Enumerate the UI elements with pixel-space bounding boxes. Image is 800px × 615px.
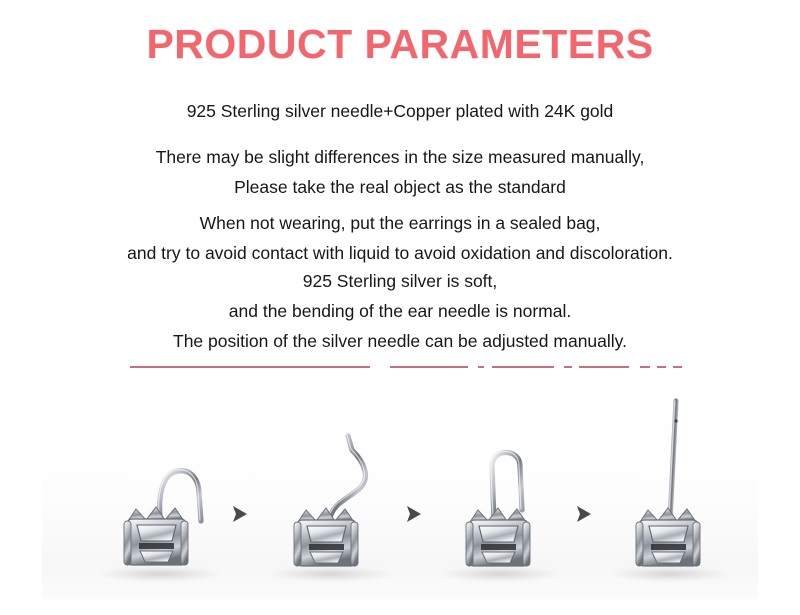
divider-gap <box>572 366 579 368</box>
copy-line: and try to avoid contact with liquid to … <box>0 238 800 268</box>
copy-line: 925 Sterling silver is soft, <box>0 266 800 296</box>
divider-gap <box>468 366 478 368</box>
arrow-2-triangle-right-icon <box>402 503 424 525</box>
decorative-divider <box>130 362 682 372</box>
copy-line: and the bending of the ear needle is nor… <box>0 296 800 326</box>
copy-line: The position of the silver needle can be… <box>0 326 800 356</box>
divider-gap <box>666 366 673 368</box>
divider-gap <box>554 366 564 368</box>
paragraph-softness-note: 925 Sterling silver is soft, and the ben… <box>0 266 800 356</box>
divider-dash <box>564 366 572 368</box>
divider-gap <box>370 366 390 368</box>
arrow-3-triangle-right-icon <box>572 503 594 525</box>
copy-line: When not wearing, put the earrings in a … <box>0 208 800 238</box>
product-parameters-page: PRODUCT PARAMETERS 925 Sterling silver n… <box>0 0 800 615</box>
step-3-stud-with-u-bent-needle <box>444 410 584 575</box>
step-2-stud-with-z-bent-needle <box>272 410 422 575</box>
step-1-stud-with-hook-bent-needle <box>102 425 242 575</box>
stud-straight-needle-icon <box>614 385 754 575</box>
arrow-1-triangle-right-icon <box>228 503 250 525</box>
copy-line: There may be slight differences in the s… <box>0 142 800 172</box>
paragraph-storage-care: When not wearing, put the earrings in a … <box>0 208 800 268</box>
divider-gap <box>629 366 640 368</box>
copy-line: Please take the real object as the stand… <box>0 172 800 202</box>
divider-dash <box>640 366 650 368</box>
stud-u-bent-needle-icon <box>444 410 584 575</box>
divider-dash <box>579 366 629 368</box>
copy-line: 925 Sterling silver needle+Copper plated… <box>0 96 800 126</box>
step-4-stud-with-straight-needle <box>614 385 754 575</box>
divider-gap <box>484 366 492 368</box>
divider-dash <box>492 366 554 368</box>
paragraph-material: 925 Sterling silver needle+Copper plated… <box>0 96 800 126</box>
stud-z-bent-needle-icon <box>272 410 422 575</box>
page-title: PRODUCT PARAMETERS <box>0 22 800 67</box>
divider-dash <box>390 366 468 368</box>
divider-gap <box>650 366 657 368</box>
divider-dash <box>673 366 682 368</box>
divider-dash <box>130 366 370 368</box>
photo-sequence <box>42 384 758 599</box>
divider-dash <box>657 366 666 368</box>
paragraph-measurement-disclaimer: There may be slight differences in the s… <box>0 142 800 202</box>
stud-hook-bent-needle-icon <box>102 425 242 575</box>
